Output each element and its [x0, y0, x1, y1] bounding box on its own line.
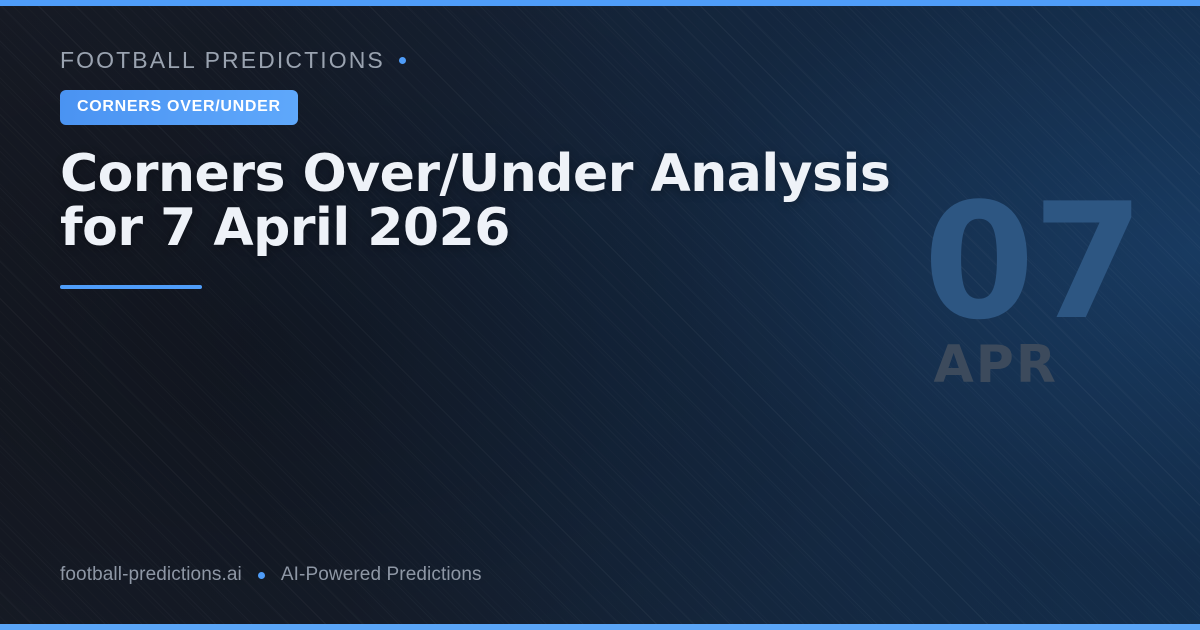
footer-bullet-dot-icon — [258, 572, 265, 579]
top-accent-bar — [0, 0, 1200, 6]
card-content: FOOTBALL PREDICTIONS CORNERS OVER/UNDER … — [60, 44, 960, 289]
footer-tagline: AI-Powered Predictions — [281, 564, 482, 586]
bullet-dot-icon — [399, 57, 406, 64]
category-badge: CORNERS OVER/UNDER — [60, 90, 298, 125]
footer-site-name: football-predictions.ai — [60, 564, 242, 586]
og-share-card: 07 APR FOOTBALL PREDICTIONS CORNERS OVER… — [0, 0, 1200, 630]
watermark-month: APR — [923, 339, 1068, 391]
accent-underline — [60, 285, 202, 289]
eyebrow-label: FOOTBALL PREDICTIONS — [60, 47, 385, 74]
eyebrow-row: FOOTBALL PREDICTIONS — [60, 44, 960, 76]
bottom-accent-bar — [0, 624, 1200, 630]
card-footer: football-predictions.ai AI-Powered Predi… — [60, 564, 482, 586]
page-title: Corners Over/Under Analysis for 7 April … — [60, 147, 950, 255]
